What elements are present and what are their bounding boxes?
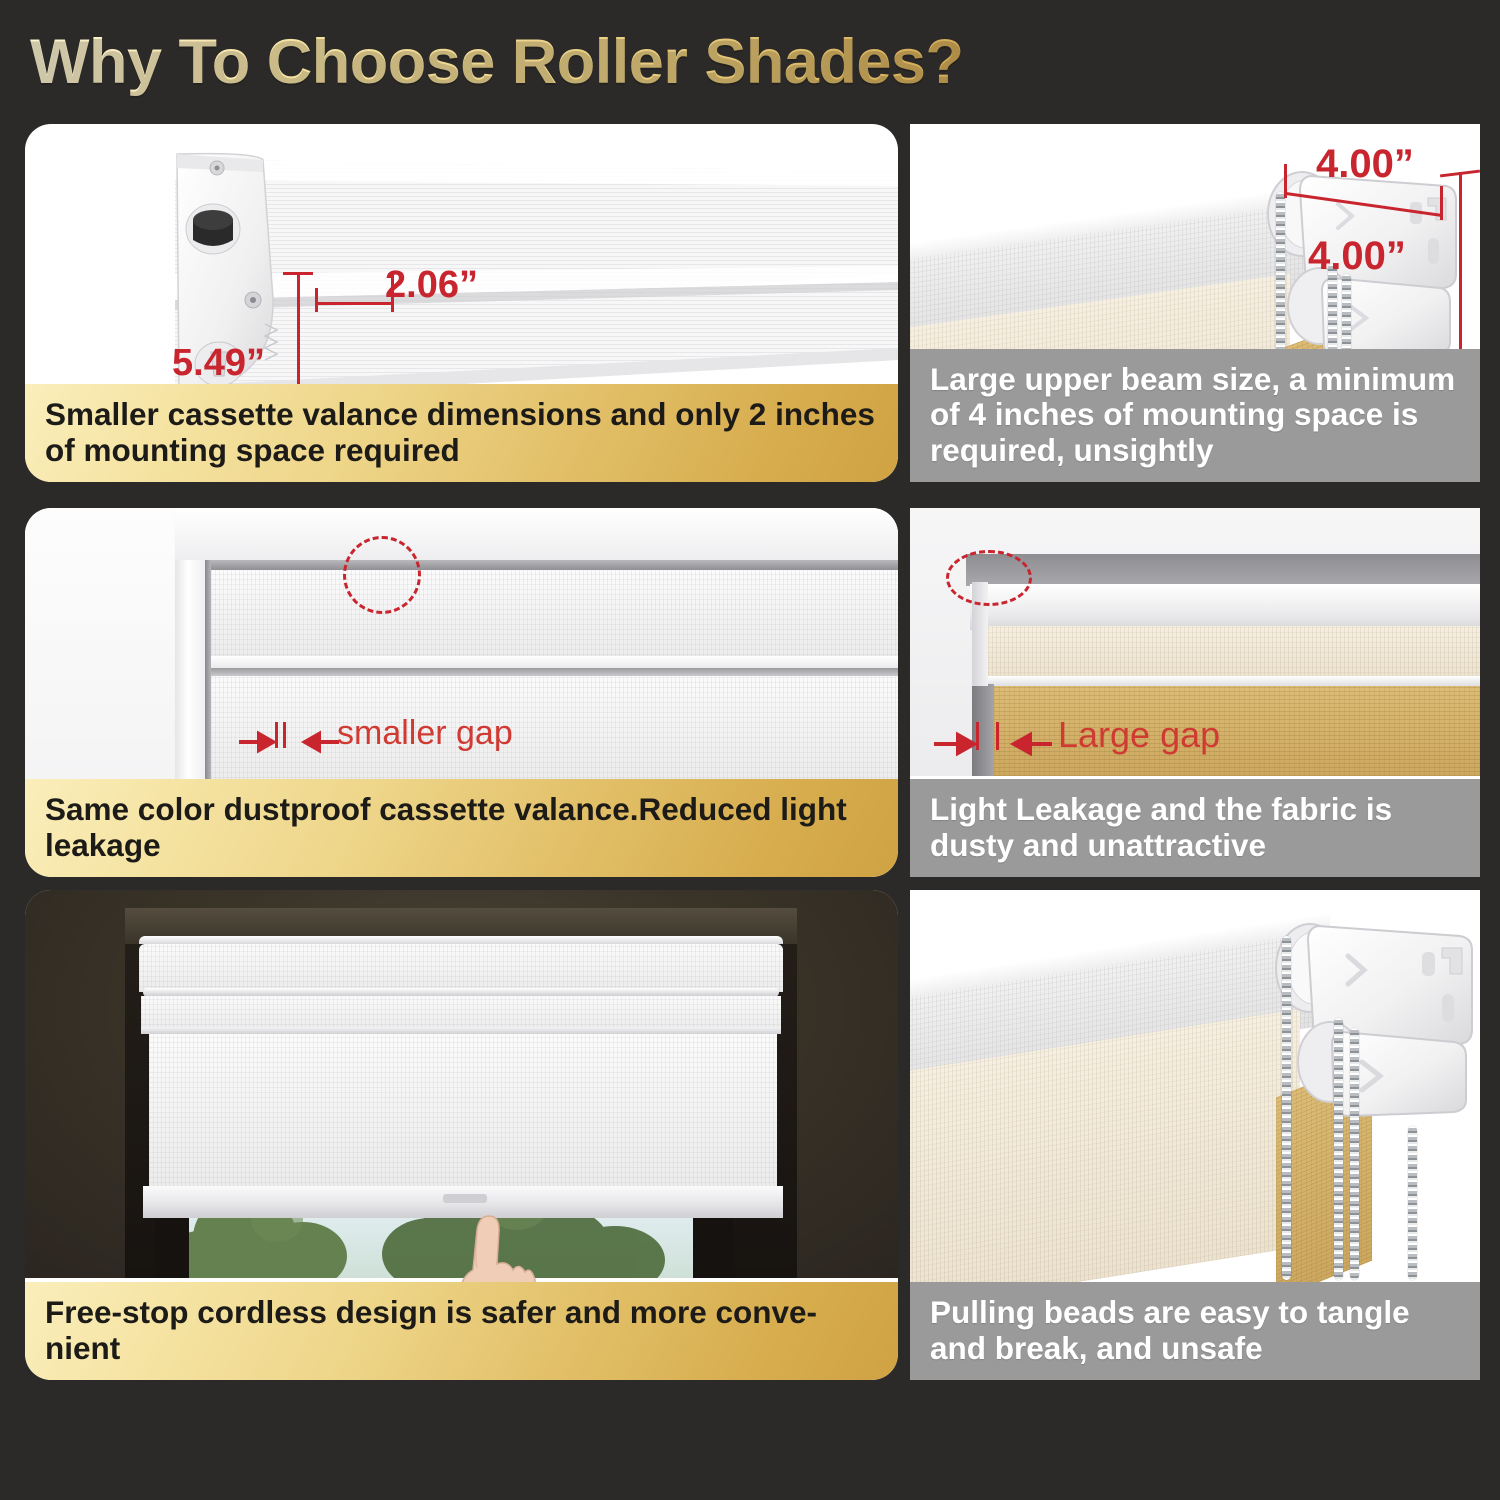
side-gap [205, 560, 211, 783]
infographic-page: Why To Choose Roller Shades? [0, 0, 1500, 1500]
height-dimension-label: 5.49” [172, 342, 265, 385]
width-dim-tick-right [1440, 186, 1443, 220]
panel-6-caption: Pulling beads are easy to tangle and bre… [910, 1282, 1480, 1380]
valance-fabric-face [211, 570, 898, 660]
gap-tick-left [976, 722, 979, 750]
gap-label: Large gap [1058, 714, 1220, 756]
valance-fabric-face [139, 944, 783, 992]
window-frame-top [175, 508, 898, 560]
bead-chain-3 [1350, 1028, 1359, 1280]
width-dim-tick-left [315, 288, 318, 312]
panel-4-caption: Light Leakage and the fabric is dusty an… [910, 779, 1480, 877]
cassette-valance [207, 560, 898, 570]
bead-chain-2 [1334, 1018, 1343, 1280]
valance-lower-edge [141, 1027, 781, 1034]
panel-1-smaller-cassette: 5.49” 2.06” Smaller cassette valance dim… [25, 124, 898, 482]
highlight-circle [946, 550, 1032, 606]
width-dimension-label: 2.06” [385, 264, 478, 307]
panel-5-caption: Free-stop cordless design is safer and m… [25, 1282, 898, 1380]
shade-fabric [149, 1034, 777, 1188]
panel-2-caption: Large upper beam size, a minimum of 4 in… [910, 349, 1480, 482]
panel-4-large-gap: Large gap Light Leakage and the fabric i… [910, 508, 1480, 877]
valance-lower-face [141, 996, 781, 1030]
panel-6-pulling-beads: Pulling beads are easy to tangle and bre… [910, 890, 1480, 1380]
gap-tick-right [283, 722, 286, 748]
width-dim-line [315, 302, 393, 305]
highlight-circle [343, 536, 421, 614]
panel-5-cordless-design: Free-stop cordless design is safer and m… [25, 890, 898, 1380]
panel-1-caption: Smaller cassette valance dimensions and … [25, 384, 898, 482]
panel-2-large-beam: 4.00” 4.00” Large upper beam size, a min… [910, 124, 1480, 482]
panel-3-caption: Same color dustproof cassette valance.Re… [25, 779, 898, 877]
panel-3-smaller-gap: smaller gap Same color dustproof cassett… [25, 508, 898, 877]
cassette-valance [139, 936, 783, 944]
gap-tick-right [996, 722, 999, 750]
page-title: Why To Choose Roller Shades? [30, 22, 1230, 102]
height-dimension-label: 4.00” [1308, 234, 1406, 279]
gap-label: smaller gap [337, 714, 513, 753]
width-dim-tick-left [1284, 164, 1287, 198]
width-dimension-label: 4.00” [1316, 142, 1414, 187]
height-dim-line [1459, 172, 1462, 370]
gap-tick-left [275, 722, 278, 748]
bead-chain-4 [1408, 1126, 1417, 1280]
bead-chain-1 [1282, 936, 1291, 1280]
upper-beam-dark [966, 554, 1480, 586]
fabric-top-band [972, 626, 1480, 678]
fabric-band-edge [972, 676, 1480, 686]
roller-tube [970, 584, 1480, 630]
height-dim-tick-top [283, 272, 313, 275]
